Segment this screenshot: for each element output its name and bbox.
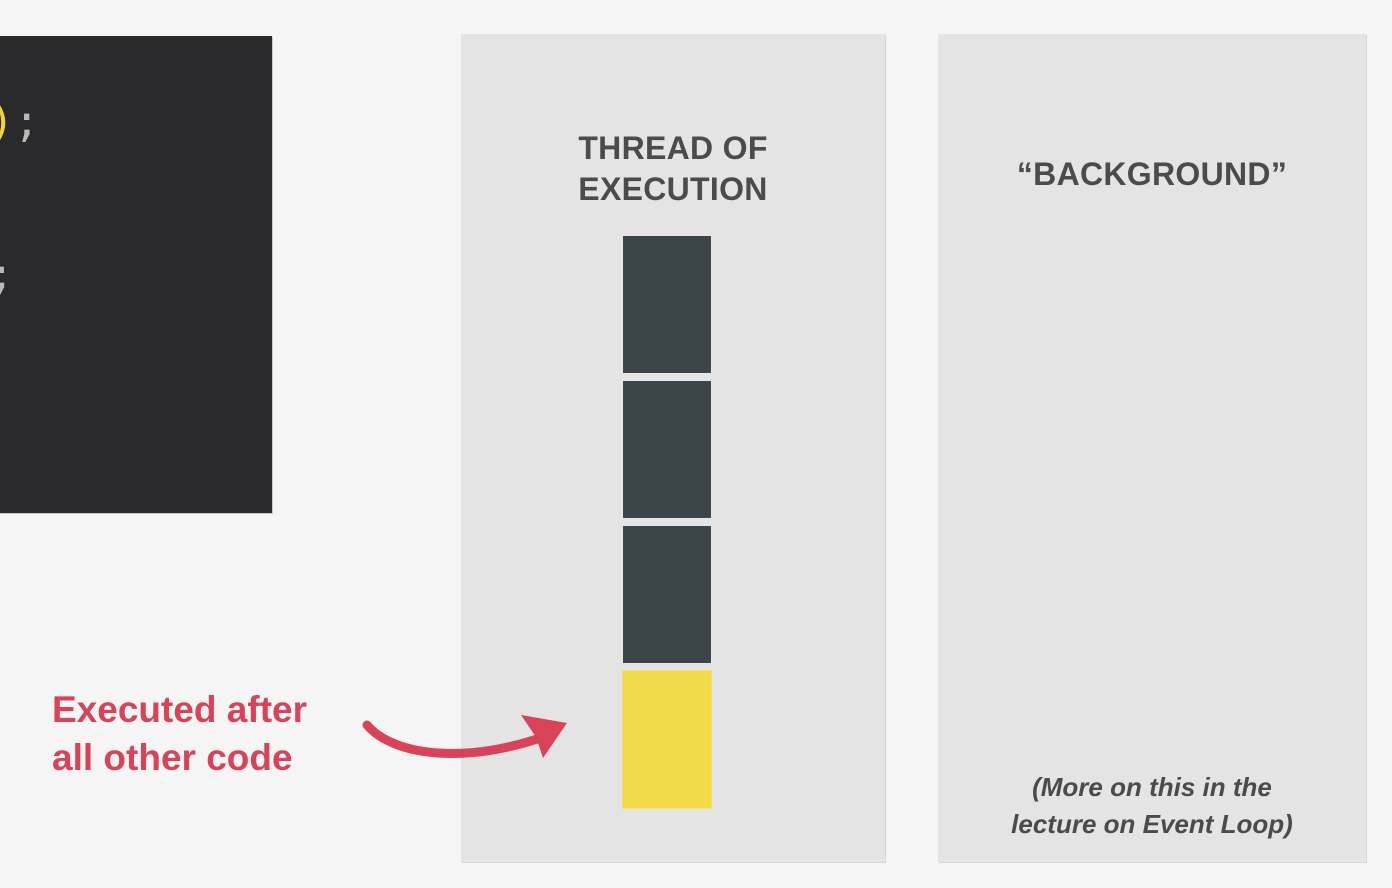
exec-box-3 [622, 525, 712, 664]
exec-box-2 [622, 380, 712, 519]
curved-arrow-right-icon [355, 712, 615, 792]
code-token-semicolon-2: ; [0, 250, 14, 300]
background-note-line-1: (More on this in the [1032, 772, 1272, 802]
exec-box-1 [622, 235, 712, 374]
code-block: r('.p'); onas!'; [0, 36, 272, 513]
code-line-2: onas!'; [0, 253, 272, 298]
annotation-text: Executed afterall other code [52, 686, 362, 782]
exec-box-4-deferred [622, 670, 712, 809]
code-line-1: r('.p'); [0, 100, 272, 145]
annotation-line-2: all other code [52, 737, 293, 778]
slide-canvas: r('.p'); onas!'; THREAD OFEXECUTION “BAC… [0, 0, 1392, 888]
code-token-semicolon: ; [14, 97, 39, 147]
background-panel-note: (More on this in thelecture on Event Loo… [938, 769, 1366, 843]
thread-panel-title: THREAD OFEXECUTION [461, 128, 885, 210]
background-panel: “BACKGROUND” (More on this in thelecture… [938, 34, 1366, 862]
thread-panel-title-line-1: THREAD OF [578, 130, 767, 166]
execution-stack [622, 235, 712, 809]
code-token-paren-close: ') [0, 97, 14, 147]
background-panel-title: “BACKGROUND” [938, 154, 1366, 195]
background-note-line-2: lecture on Event Loop) [1011, 809, 1293, 839]
annotation-line-1: Executed after [52, 689, 307, 730]
thread-panel-title-line-2: EXECUTION [578, 171, 767, 207]
